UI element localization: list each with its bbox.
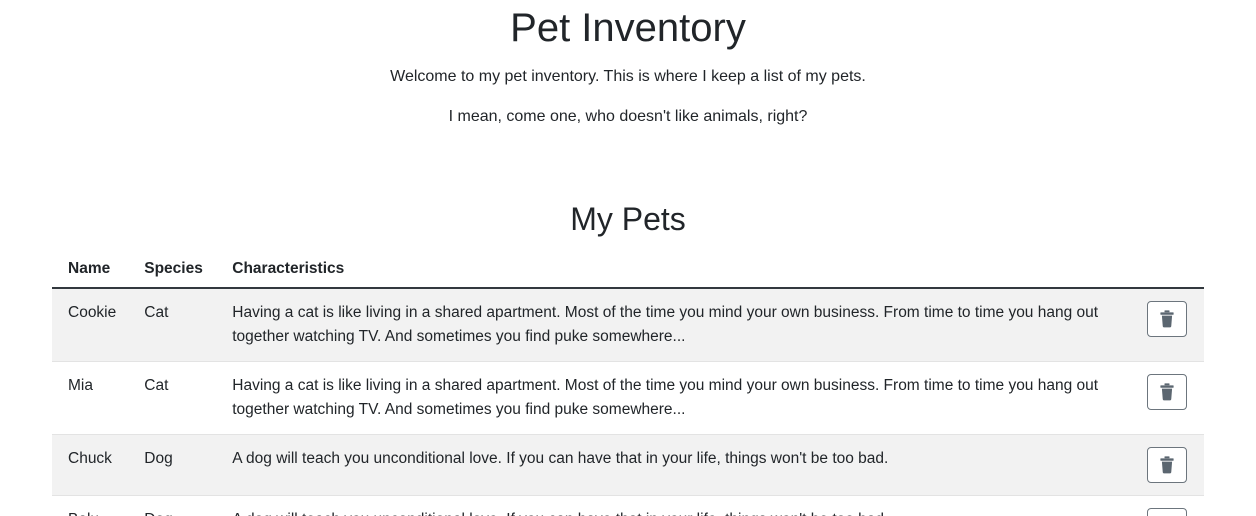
column-header-species: Species xyxy=(128,259,216,288)
pet-table-body: Cookie Cat Having a cat is like living i… xyxy=(52,288,1204,516)
cell-characteristics: Having a cat is like living in a shared … xyxy=(216,362,1126,435)
table-row: Mia Cat Having a cat is like living in a… xyxy=(52,362,1204,435)
table-row: Balu Dog A dog will teach you unconditio… xyxy=(52,496,1204,516)
trash-icon xyxy=(1159,310,1175,328)
column-header-actions xyxy=(1126,259,1204,288)
table-header-row: Name Species Characteristics xyxy=(52,259,1204,288)
cell-name: Chuck xyxy=(52,435,128,496)
cell-species: Dog xyxy=(128,496,216,516)
page-header: Pet Inventory Welcome to my pet inventor… xyxy=(0,0,1256,129)
cell-characteristics: A dog will teach you unconditional love.… xyxy=(216,435,1126,496)
cell-actions xyxy=(1126,362,1204,435)
trash-icon xyxy=(1159,383,1175,401)
delete-pet-button[interactable] xyxy=(1147,508,1187,516)
table-row: Chuck Dog A dog will teach you unconditi… xyxy=(52,435,1204,496)
cell-characteristics: Having a cat is like living in a shared … xyxy=(216,288,1126,362)
cell-name: Mia xyxy=(52,362,128,435)
intro-paragraph-2: I mean, come one, who doesn't like anima… xyxy=(0,105,1256,129)
table-row: Cookie Cat Having a cat is like living i… xyxy=(52,288,1204,362)
pet-inventory-page: Pet Inventory Welcome to my pet inventor… xyxy=(0,0,1256,516)
pet-table-container: Name Species Characteristics Cookie Cat … xyxy=(52,259,1204,516)
trash-icon xyxy=(1159,456,1175,474)
cell-species: Cat xyxy=(128,362,216,435)
delete-pet-button[interactable] xyxy=(1147,301,1187,337)
column-header-characteristics: Characteristics xyxy=(216,259,1126,288)
delete-pet-button[interactable] xyxy=(1147,374,1187,410)
delete-pet-button[interactable] xyxy=(1147,447,1187,483)
pet-table-head: Name Species Characteristics xyxy=(52,259,1204,288)
section-title-my-pets: My Pets xyxy=(0,129,1256,238)
cell-name: Balu xyxy=(52,496,128,516)
pet-table: Name Species Characteristics Cookie Cat … xyxy=(52,259,1204,516)
cell-actions xyxy=(1126,496,1204,516)
cell-actions xyxy=(1126,288,1204,362)
intro-paragraph-1: Welcome to my pet inventory. This is whe… xyxy=(0,65,1256,89)
page-title: Pet Inventory xyxy=(0,4,1256,52)
cell-name: Cookie xyxy=(52,288,128,362)
cell-characteristics: A dog will teach you unconditional love.… xyxy=(216,496,1126,516)
cell-actions xyxy=(1126,435,1204,496)
cell-species: Dog xyxy=(128,435,216,496)
column-header-name: Name xyxy=(52,259,128,288)
cell-species: Cat xyxy=(128,288,216,362)
